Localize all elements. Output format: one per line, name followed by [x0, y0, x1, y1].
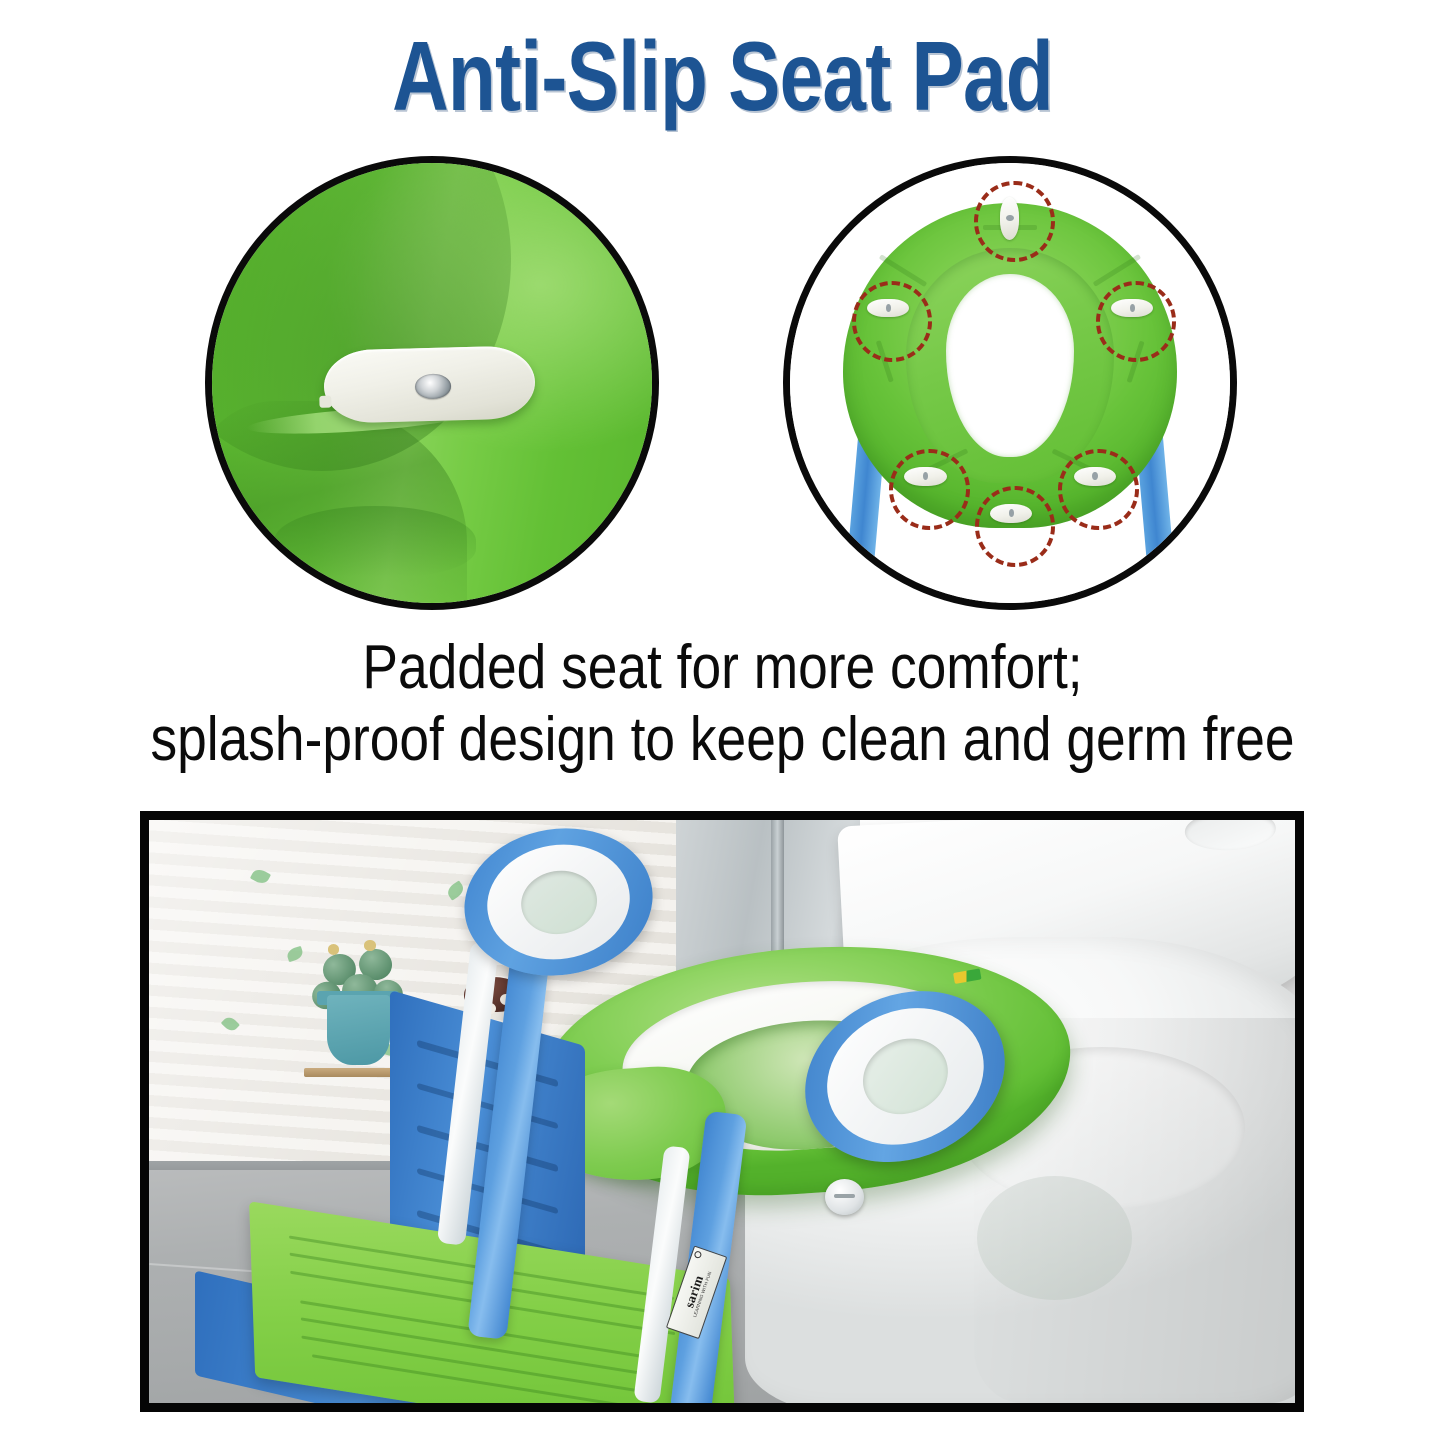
- product-in-use-photo: sarim LEARNING WITH FUN: [149, 820, 1295, 1403]
- anti-slip-pad-nub: [319, 395, 332, 407]
- caption-line-1: Padded seat for more comfort;: [101, 632, 1344, 704]
- anti-slip-pad-closeup-panel: [212, 163, 652, 603]
- toilet-lid-recess: [1184, 820, 1277, 852]
- page-title: Anti-Slip Seat Pad: [145, 22, 1301, 130]
- product-photo-frame: sarim LEARNING WITH FUN: [140, 811, 1304, 1412]
- highlight-ring-upper-left: [852, 281, 933, 362]
- highlight-ring-upper-right: [1096, 281, 1177, 362]
- anti-slip-pad-locations-panel: [790, 163, 1230, 603]
- highlight-ring-bottom: [975, 486, 1056, 567]
- seat-lower-ridge: [274, 506, 476, 576]
- feature-caption: Padded seat for more comfort; splash-pro…: [101, 632, 1344, 776]
- step-tread-groove: [302, 1335, 658, 1395]
- highlight-ring-top: [974, 181, 1055, 262]
- handle-right-opening: [851, 1025, 960, 1127]
- handle-lock-knob: [825, 1179, 864, 1215]
- highlight-ring-lower-left: [889, 449, 970, 530]
- cactus-flower: [328, 944, 339, 954]
- registered-mark-icon: [694, 1250, 703, 1259]
- handle-left-opening: [517, 865, 602, 939]
- highlight-ring-lower-right: [1058, 449, 1139, 530]
- anti-slip-pad-screw: [415, 373, 452, 399]
- seat-warning-sticker: [954, 969, 983, 985]
- caption-line-2: splash-proof design to keep clean and ge…: [101, 704, 1344, 776]
- ladder-slot: [417, 1083, 557, 1130]
- cactus-flower: [364, 940, 375, 950]
- anti-slip-pad: [323, 345, 536, 423]
- plant-pot: [327, 995, 390, 1065]
- handle-left-grip: [479, 834, 639, 969]
